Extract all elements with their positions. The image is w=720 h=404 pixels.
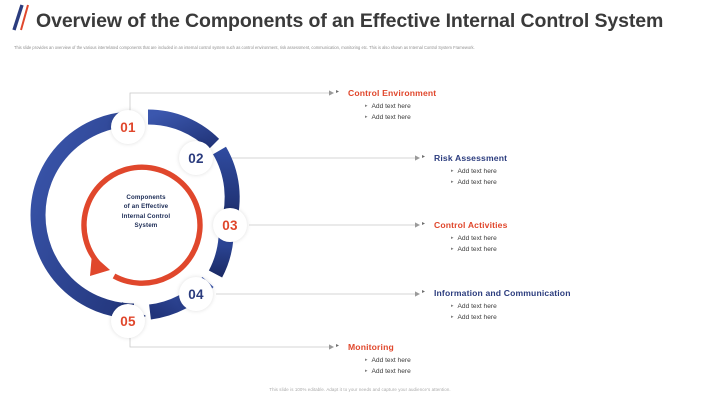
item-title-04: Information and Communication xyxy=(434,288,571,298)
center-line-1: Components xyxy=(96,193,196,202)
diagram-badge-01[interactable]: 01 xyxy=(111,110,145,144)
item-monitoring[interactable]: ▸ Monitoring ▸ Add text here ▸ Add text … xyxy=(348,342,411,377)
bullet-row: ▸ Add text here xyxy=(451,177,507,188)
bullet-text: Add text here xyxy=(372,114,411,121)
item-control-activities[interactable]: ▸ Control Activities ▸ Add text here ▸ A… xyxy=(434,220,508,255)
item-bullets-04: ▸ Add text here ▸ Add text here xyxy=(434,301,571,323)
page-title: Overview of the Components of an Effecti… xyxy=(36,10,706,33)
item-bullets-01: ▸ Add text here ▸ Add text here xyxy=(348,101,436,123)
bullet-row: ▸ Add text here xyxy=(451,166,507,177)
item-arrow-icon-05: ▸ xyxy=(336,343,339,349)
bullet-row: ▸ Add text here xyxy=(365,101,436,112)
item-title-02: Risk Assessment xyxy=(434,153,507,163)
bullet-arrow-icon: ▸ xyxy=(451,315,454,320)
bullet-arrow-icon: ▸ xyxy=(365,104,368,109)
bullet-row: ▸ Add text here xyxy=(451,312,571,323)
diagram-badge-04[interactable]: 04 xyxy=(179,277,213,311)
item-arrow-icon-02: ▸ xyxy=(422,154,425,160)
bullet-text: Add text here xyxy=(458,246,497,253)
bullet-text: Add text here xyxy=(458,168,497,175)
bullet-text: Add text here xyxy=(458,314,497,321)
item-title-01: Control Environment xyxy=(348,88,436,98)
bullet-arrow-icon: ▸ xyxy=(451,236,454,241)
bullet-arrow-icon: ▸ xyxy=(451,180,454,185)
item-arrow-icon-01: ▸ xyxy=(336,89,339,95)
bullet-arrow-icon: ▸ xyxy=(365,358,368,363)
item-risk-assessment[interactable]: ▸ Risk Assessment ▸ Add text here ▸ Add … xyxy=(434,153,507,188)
circular-process-diagram: Components of an Effective Internal Cont… xyxy=(18,80,318,360)
bullet-row: ▸ Add text here xyxy=(451,301,571,312)
item-bullets-05: ▸ Add text here ▸ Add text here xyxy=(348,355,411,377)
bullet-text: Add text here xyxy=(458,179,497,186)
bullet-row: ▸ Add text here xyxy=(451,244,508,255)
bullet-row: ▸ Add text here xyxy=(451,233,508,244)
bullet-text: Add text here xyxy=(372,368,411,375)
item-title-03: Control Activities xyxy=(434,220,508,230)
diagram-center-label: Components of an Effective Internal Cont… xyxy=(96,193,196,231)
bullet-arrow-icon: ▸ xyxy=(365,115,368,120)
center-line-2: of an Effective xyxy=(96,202,196,211)
bullet-text: Add text here xyxy=(372,357,411,364)
item-bullets-02: ▸ Add text here ▸ Add text here xyxy=(434,166,507,188)
page-subtitle: This slide provides an overview of the v… xyxy=(14,44,690,51)
bullet-text: Add text here xyxy=(458,235,497,242)
bullet-arrow-icon: ▸ xyxy=(365,369,368,374)
diagram-badge-02[interactable]: 02 xyxy=(179,141,213,175)
bullet-arrow-icon: ▸ xyxy=(451,304,454,309)
item-arrow-icon-04: ▸ xyxy=(422,289,425,295)
item-bullets-03: ▸ Add text here ▸ Add text here xyxy=(434,233,508,255)
item-arrow-icon-03: ▸ xyxy=(422,221,425,227)
item-information-and-communication[interactable]: ▸ Information and Communication ▸ Add te… xyxy=(434,288,571,323)
center-line-4: System xyxy=(96,221,196,230)
bullet-row: ▸ Add text here xyxy=(365,112,436,123)
bullet-text: Add text here xyxy=(458,303,497,310)
center-line-3: Internal Control xyxy=(96,212,196,221)
bullet-row: ▸ Add text here xyxy=(365,366,411,377)
diagram-badge-05[interactable]: 05 xyxy=(111,304,145,338)
diagram-badge-03[interactable]: 03 xyxy=(213,208,247,242)
bullet-row: ▸ Add text here xyxy=(365,355,411,366)
footer-note: This slide is 100% editable. Adapt it to… xyxy=(0,387,720,392)
item-title-05: Monitoring xyxy=(348,342,411,352)
item-control-environment[interactable]: ▸ Control Environment ▸ Add text here ▸ … xyxy=(348,88,436,123)
slide-header: Overview of the Components of an Effecti… xyxy=(0,0,720,70)
bullet-text: Add text here xyxy=(372,103,411,110)
bullet-arrow-icon: ▸ xyxy=(451,169,454,174)
bullet-arrow-icon: ▸ xyxy=(451,247,454,252)
